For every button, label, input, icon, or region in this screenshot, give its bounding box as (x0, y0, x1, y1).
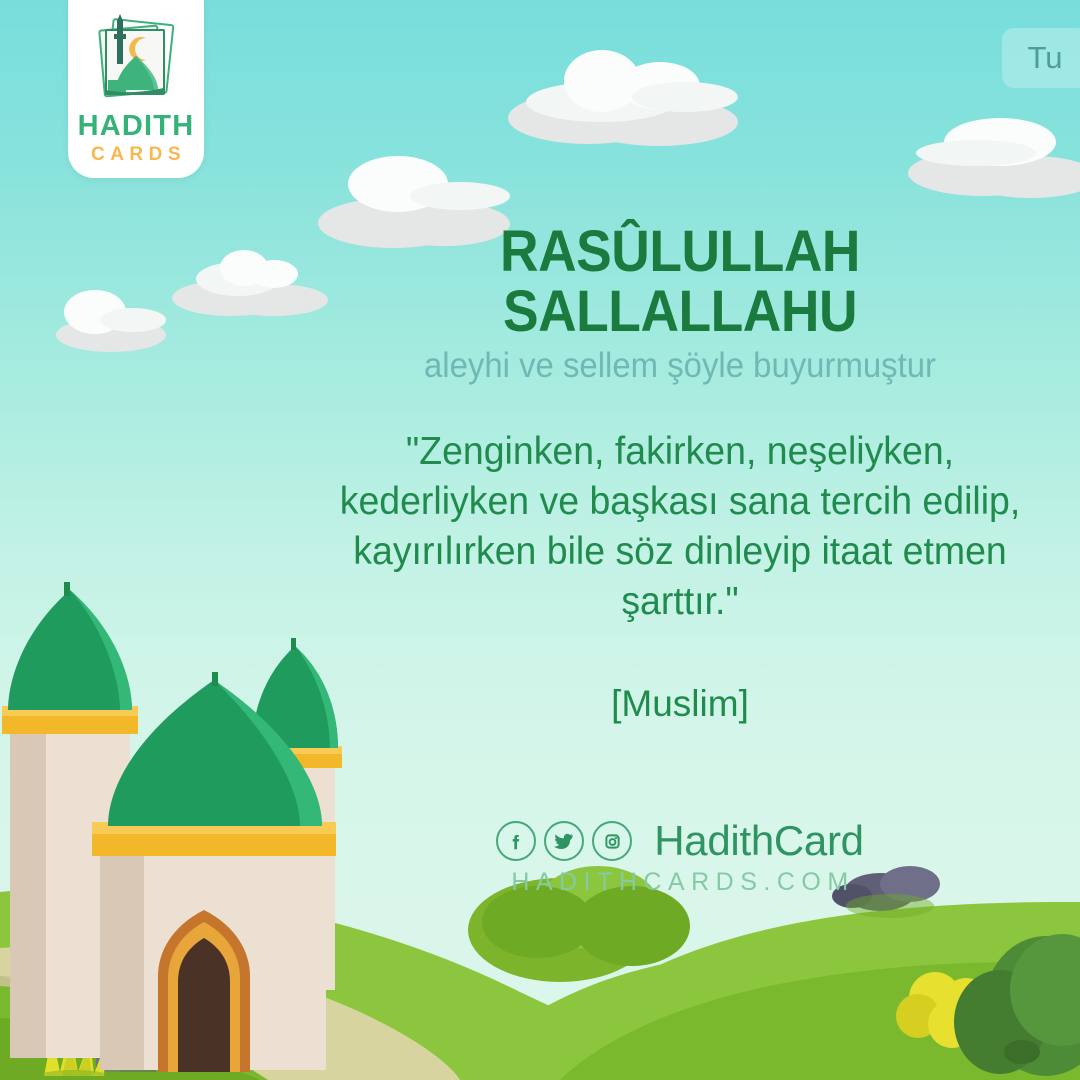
page-title: RASÛLULLAH SALLALLAHU (330, 222, 1029, 343)
language-badge[interactable]: Tu (1002, 28, 1080, 88)
hadith-source: [Muslim] (300, 683, 1060, 725)
social-row: HadithCard (496, 820, 863, 862)
facebook-icon[interactable] (496, 821, 536, 861)
cloud-top-right (908, 110, 1080, 200)
brand-website: HADITHCARDS.COM (505, 868, 854, 897)
logo-panel[interactable]: HADITH CARDS (68, 0, 204, 178)
cloud-top-center (508, 40, 738, 150)
logo-word-hadith: HADITH (78, 112, 195, 141)
page-subtitle: aleyhi ve sellem şöyle buyurmuştur (323, 347, 1037, 386)
content-block: RASÛLULLAH SALLALLAHU aleyhi ve sellem ş… (300, 222, 1060, 725)
footer: HadithCard HADITHCARDS.COM (300, 820, 1060, 897)
twitter-icon[interactable] (544, 821, 584, 861)
mosque-photo-card-logo-icon (84, 12, 188, 110)
instagram-icon[interactable] (592, 821, 632, 861)
logo-word-cards: CARDS (86, 145, 186, 164)
hadith-text: "Zenginken, fakirken, neşeliyken, kederl… (315, 427, 1045, 627)
cloud-far-left (56, 288, 176, 354)
brand-name: HadithCard (654, 820, 863, 862)
hadith-card: HADITH CARDS Tu RASÛLULLAH SALLALLAHU al… (0, 0, 1080, 1080)
